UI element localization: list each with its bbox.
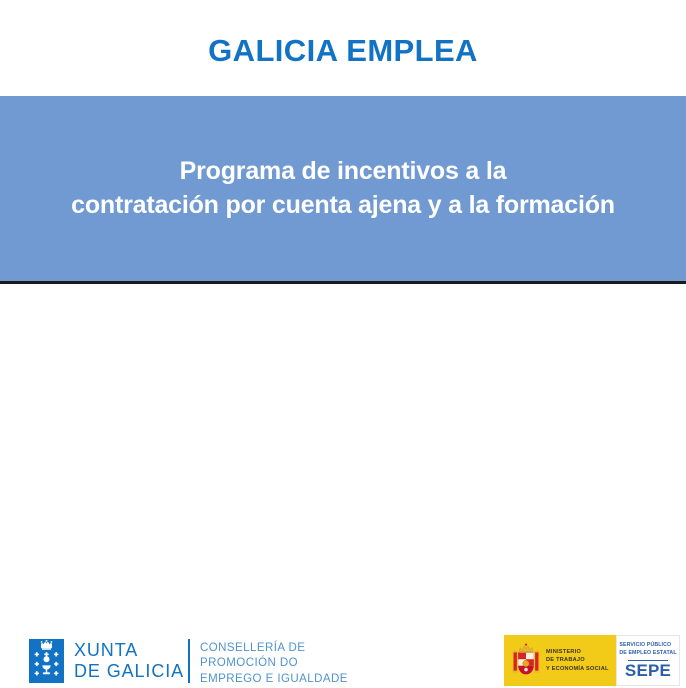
conselleria-text: CONSELLERÍA DE PROMOCIÓN DO EMPREGO E IG… — [200, 641, 348, 687]
sepe-wordmark: SEPE — [625, 662, 671, 679]
sepe-subtitle-line-1: SERVICIO PÚBLICO — [619, 642, 676, 650]
xunta-de-galicia-logo: XUNTA DE GALICIA — [29, 638, 184, 684]
spain-coat-of-arms-icon — [512, 642, 540, 680]
xunta-coat-of-arms-icon — [29, 639, 64, 683]
conselleria-line-3: EMPREGO E IGUALDADE — [200, 672, 348, 687]
page-title: GALICIA EMPLEA — [208, 35, 478, 66]
ministerio-trabajo-logo: MINISTERIO DE TRABAJO Y ECONOMÍA SOCIAL — [504, 635, 616, 686]
xunta-wordmark-line-2: DE GALICIA — [74, 661, 184, 682]
conselleria-line-2: PROMOCIÓN DO — [200, 656, 348, 671]
sepe-logo: SERVICIO PÚBLICO DE EMPLEO ESTATAL SEPE — [616, 635, 680, 686]
xunta-wordmark: XUNTA DE GALICIA — [74, 640, 184, 682]
header-bar: GALICIA EMPLEA — [0, 0, 686, 96]
ministerio-line-2: DE TRABAJO — [546, 656, 609, 664]
program-banner: Programa de incentivos a la contratación… — [0, 96, 686, 284]
conselleria-line-1: CONSELLERÍA DE — [200, 641, 348, 656]
sepe-subtitle-line-2: DE EMPLEO ESTATAL — [619, 650, 676, 658]
xunta-wordmark-line-1: XUNTA — [74, 640, 184, 661]
sepe-subtitle: SERVICIO PÚBLICO DE EMPLEO ESTATAL — [619, 642, 676, 657]
banner-line-1: Programa de incentivos a la — [12, 155, 674, 189]
banner-text: Programa de incentivos a la contratación… — [0, 155, 686, 222]
ministerio-text: MINISTERIO DE TRABAJO Y ECONOMÍA SOCIAL — [546, 648, 609, 673]
ministerio-line-3: Y ECONOMÍA SOCIAL — [546, 665, 609, 673]
ministerio-line-1: MINISTERIO — [546, 648, 609, 656]
banner-line-2: contratación por cuenta ajena y a la for… — [12, 189, 674, 223]
footer-logos: XUNTA DE GALICIA CONSELLERÍA DE PROMOCIÓ… — [0, 287, 686, 410]
footer-divider — [188, 639, 190, 683]
sepe-rule — [628, 660, 668, 661]
